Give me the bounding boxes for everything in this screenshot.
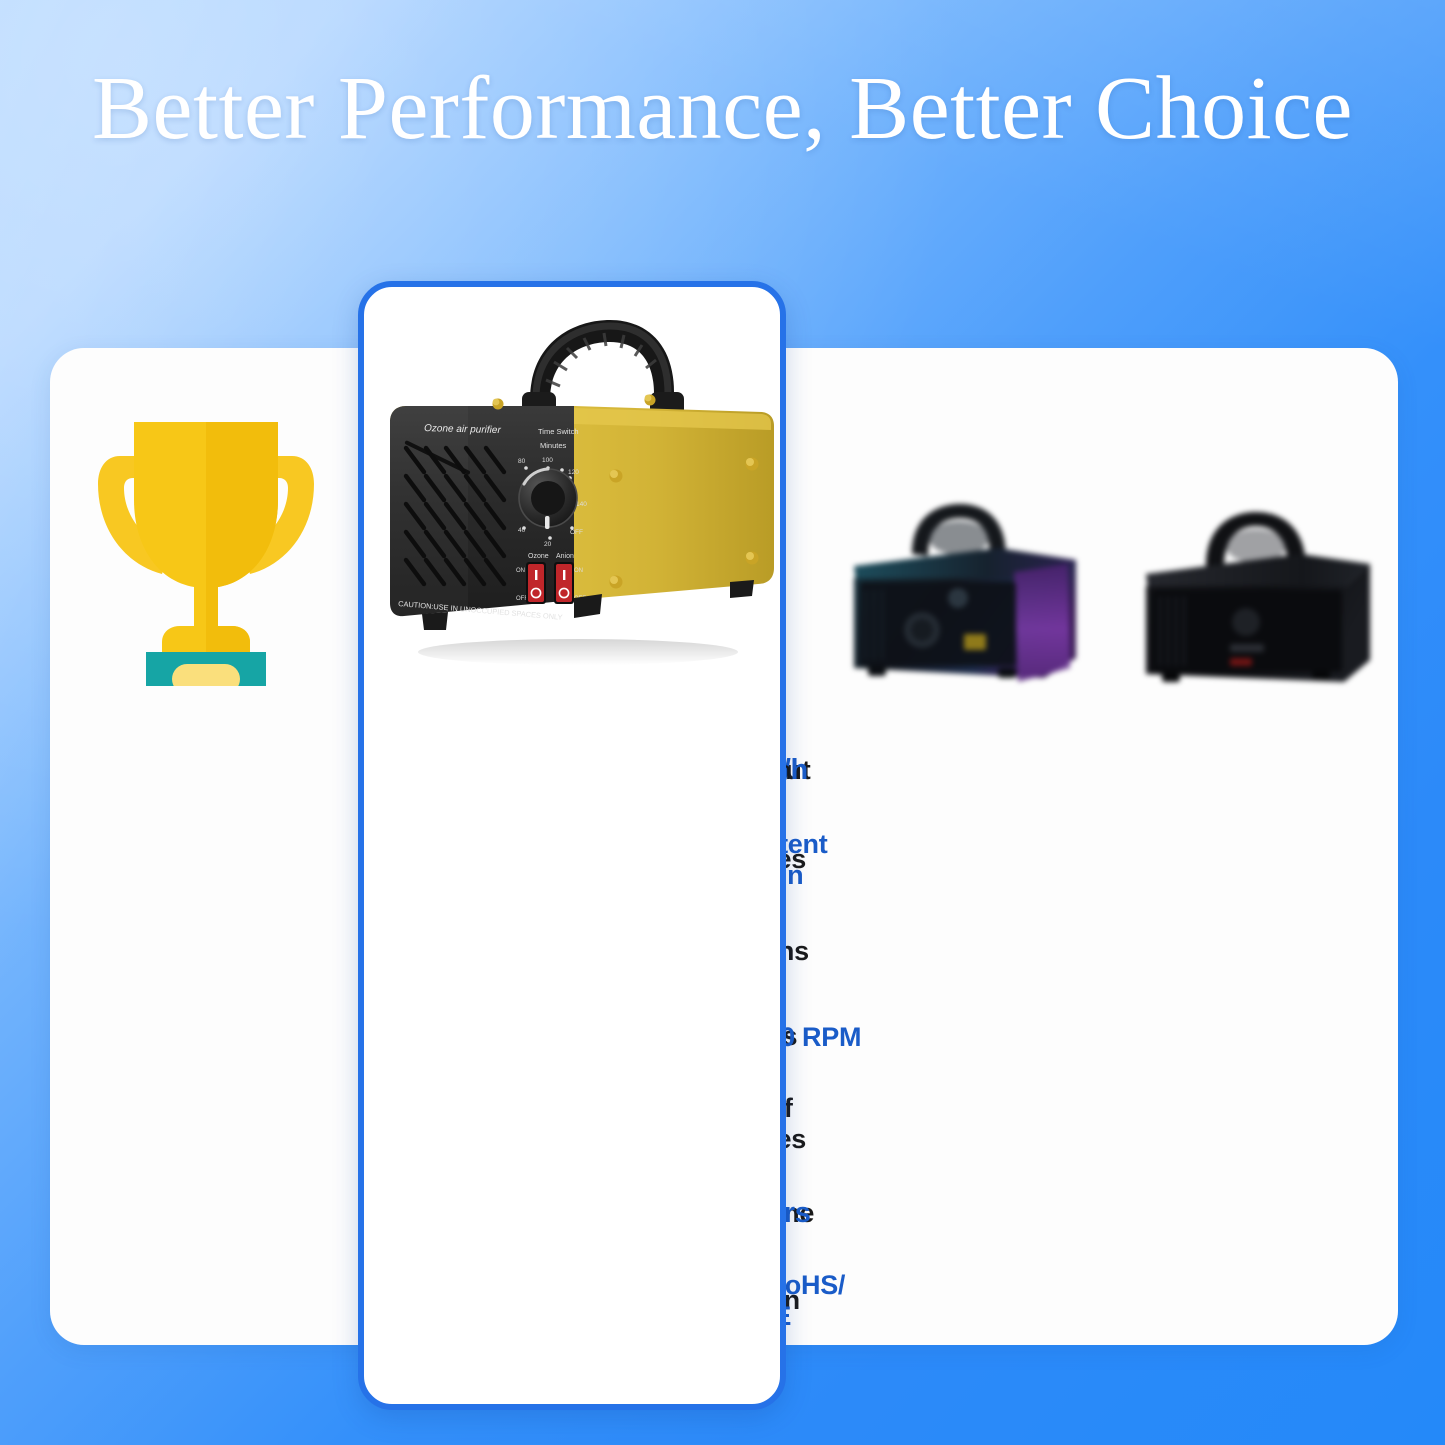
svg-text:Anion: Anion — [556, 553, 574, 560]
svg-text:20: 20 — [544, 541, 552, 548]
svg-text:ON: ON — [516, 568, 525, 574]
svg-text:OFF: OFF — [570, 529, 583, 536]
svg-text:ON: ON — [574, 568, 583, 574]
yellow-ozone-generator-image: Ozone air purifier Time Switch Minutes 1… — [378, 300, 778, 688]
svg-text:120: 120 — [568, 469, 579, 476]
competitor-ozone-generator-1-image — [838, 482, 1090, 702]
svg-text:40: 40 — [518, 527, 526, 534]
competitor-ozone-generator-2-image — [1134, 492, 1380, 700]
svg-text:Time Switch: Time Switch — [538, 427, 579, 436]
trophy-icon — [84, 396, 328, 686]
svg-text:Ozone: Ozone — [528, 553, 549, 560]
svg-text:Ozone air purifier: Ozone air purifier — [424, 423, 502, 436]
svg-text:100: 100 — [542, 457, 553, 464]
svg-text:80: 80 — [518, 458, 526, 465]
page-title: Better Performance, Better Choice — [0, 62, 1445, 157]
svg-text:140: 140 — [576, 501, 587, 508]
svg-text:Minutes: Minutes — [540, 441, 567, 450]
